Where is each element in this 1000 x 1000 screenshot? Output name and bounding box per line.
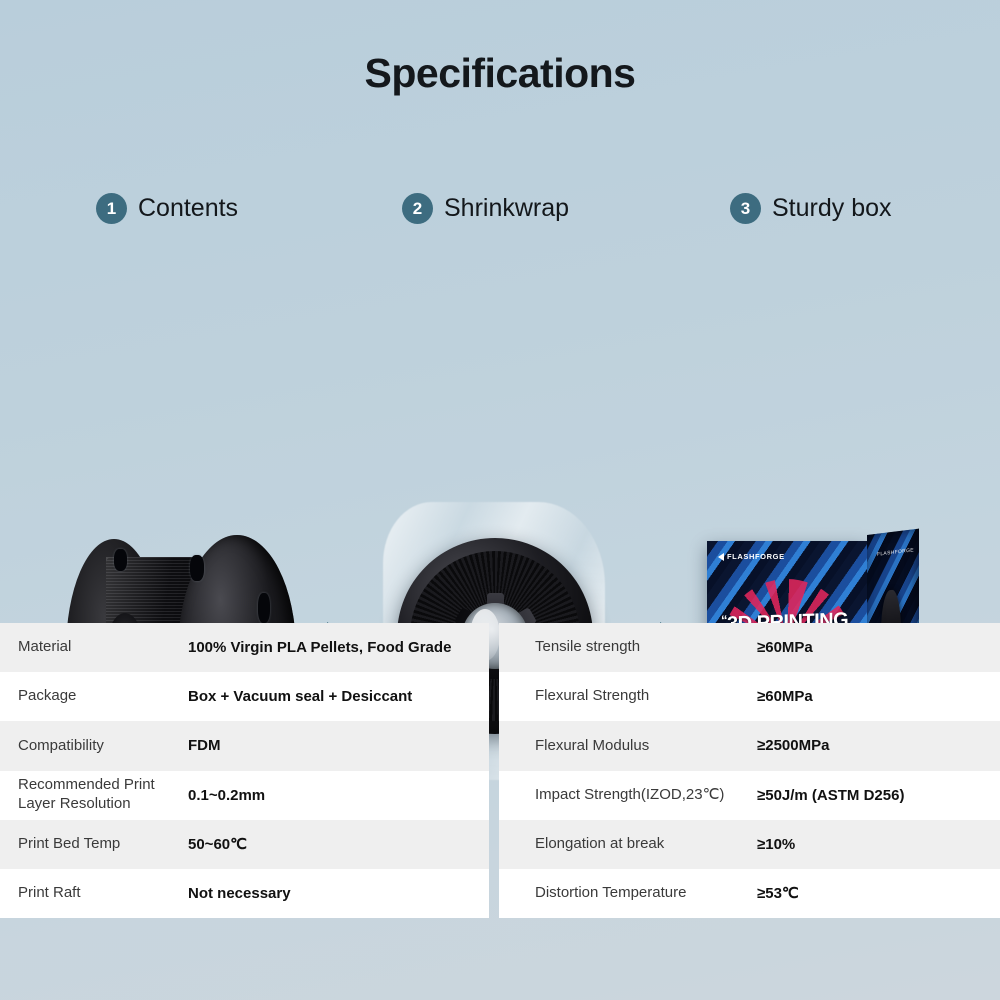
spool-slot-icon bbox=[190, 555, 204, 581]
spec-value: 0.1~0.2mm bbox=[188, 787, 265, 804]
spec-key: Flexural Strength bbox=[517, 687, 757, 706]
table-row: Distortion Temperature ≥53℃ bbox=[499, 869, 1000, 918]
table-row: Tensile strength ≥60MPa bbox=[499, 623, 1000, 672]
box-side-brand-text: FLASHFORGE bbox=[877, 547, 914, 559]
spec-value: Box + Vacuum seal + Desiccant bbox=[188, 688, 412, 705]
step-label-shrinkwrap: Shrinkwrap bbox=[444, 194, 569, 223]
spool-slot-icon bbox=[258, 593, 270, 623]
step-header-3: 3 Sturdy box bbox=[730, 193, 892, 224]
table-row: Impact Strength(IZOD,23℃) ≥50J/m (ASTM D… bbox=[499, 771, 1000, 820]
spec-value: 100% Virgin PLA Pellets, Food Grade bbox=[188, 639, 451, 656]
spec-key: Elongation at break bbox=[517, 835, 757, 854]
box-brand-lockup: FLASHFORGE bbox=[718, 552, 785, 561]
spec-value: FDM bbox=[188, 737, 221, 754]
spool-slot-icon bbox=[114, 549, 127, 571]
table-row: Package Box + Vacuum seal + Desiccant bbox=[0, 672, 489, 721]
table-row: Flexural Strength ≥60MPa bbox=[499, 672, 1000, 721]
spec-table-right: Tensile strength ≥60MPa Flexural Strengt… bbox=[499, 623, 1000, 918]
table-row: Elongation at break ≥10% bbox=[499, 820, 1000, 869]
spec-value: ≥2500MPa bbox=[757, 737, 829, 754]
flashforge-logo-icon bbox=[718, 553, 724, 561]
table-row: Recommended Print Layer Resolution 0.1~0… bbox=[0, 771, 489, 820]
step-header-1: 1 Contents bbox=[96, 193, 238, 224]
specification-tables: Material 100% Virgin PLA Pellets, Food G… bbox=[0, 623, 1000, 918]
spec-key: Material bbox=[18, 638, 188, 657]
step-badge-1: 1 bbox=[96, 193, 127, 224]
steps-header-row: 1 Contents 2 Shrinkwrap 3 Sturdy box bbox=[0, 193, 1000, 253]
spec-value: 50~60℃ bbox=[188, 835, 247, 853]
page-title: Specifications bbox=[0, 0, 1000, 97]
spec-key: Print Bed Temp bbox=[18, 835, 188, 854]
spec-table-left: Material 100% Virgin PLA Pellets, Food G… bbox=[0, 623, 489, 918]
spec-key: Flexural Modulus bbox=[517, 737, 757, 756]
spec-value: ≥60MPa bbox=[757, 688, 813, 705]
spec-key: Compatibility bbox=[18, 737, 188, 756]
spec-value: ≥60MPa bbox=[757, 639, 813, 656]
spec-value: ≥53℃ bbox=[757, 884, 799, 902]
table-row: Print Raft Not necessary bbox=[0, 869, 489, 918]
step-badge-3: 3 bbox=[730, 193, 761, 224]
spec-key: Print Raft bbox=[18, 884, 188, 903]
product-stage-illustrations: DESICCANT SILICA GEL THROW AWAY "DO NOT … bbox=[0, 250, 1000, 550]
step-label-sturdy-box: Sturdy box bbox=[772, 194, 892, 223]
spec-value: ≥50J/m (ASTM D256) bbox=[757, 787, 904, 804]
spec-key: Distortion Temperature bbox=[517, 884, 757, 903]
spec-key: Tensile strength bbox=[517, 638, 757, 657]
table-row: Material 100% Virgin PLA Pellets, Food G… bbox=[0, 623, 489, 672]
spec-value: ≥10% bbox=[757, 836, 795, 853]
spec-key: Package bbox=[18, 687, 188, 706]
table-row: Print Bed Temp 50~60℃ bbox=[0, 820, 489, 869]
table-row: Flexural Modulus ≥2500MPa bbox=[499, 721, 1000, 770]
step-badge-2: 2 bbox=[402, 193, 433, 224]
step-label-contents: Contents bbox=[138, 194, 238, 223]
spec-value: Not necessary bbox=[188, 885, 291, 902]
spec-key: Recommended Print Layer Resolution bbox=[18, 776, 188, 814]
box-brand-name: FLASHFORGE bbox=[727, 552, 785, 561]
step-header-2: 2 Shrinkwrap bbox=[402, 193, 569, 224]
spec-key: Impact Strength(IZOD,23℃) bbox=[517, 786, 757, 805]
table-row: Compatibility FDM bbox=[0, 721, 489, 770]
